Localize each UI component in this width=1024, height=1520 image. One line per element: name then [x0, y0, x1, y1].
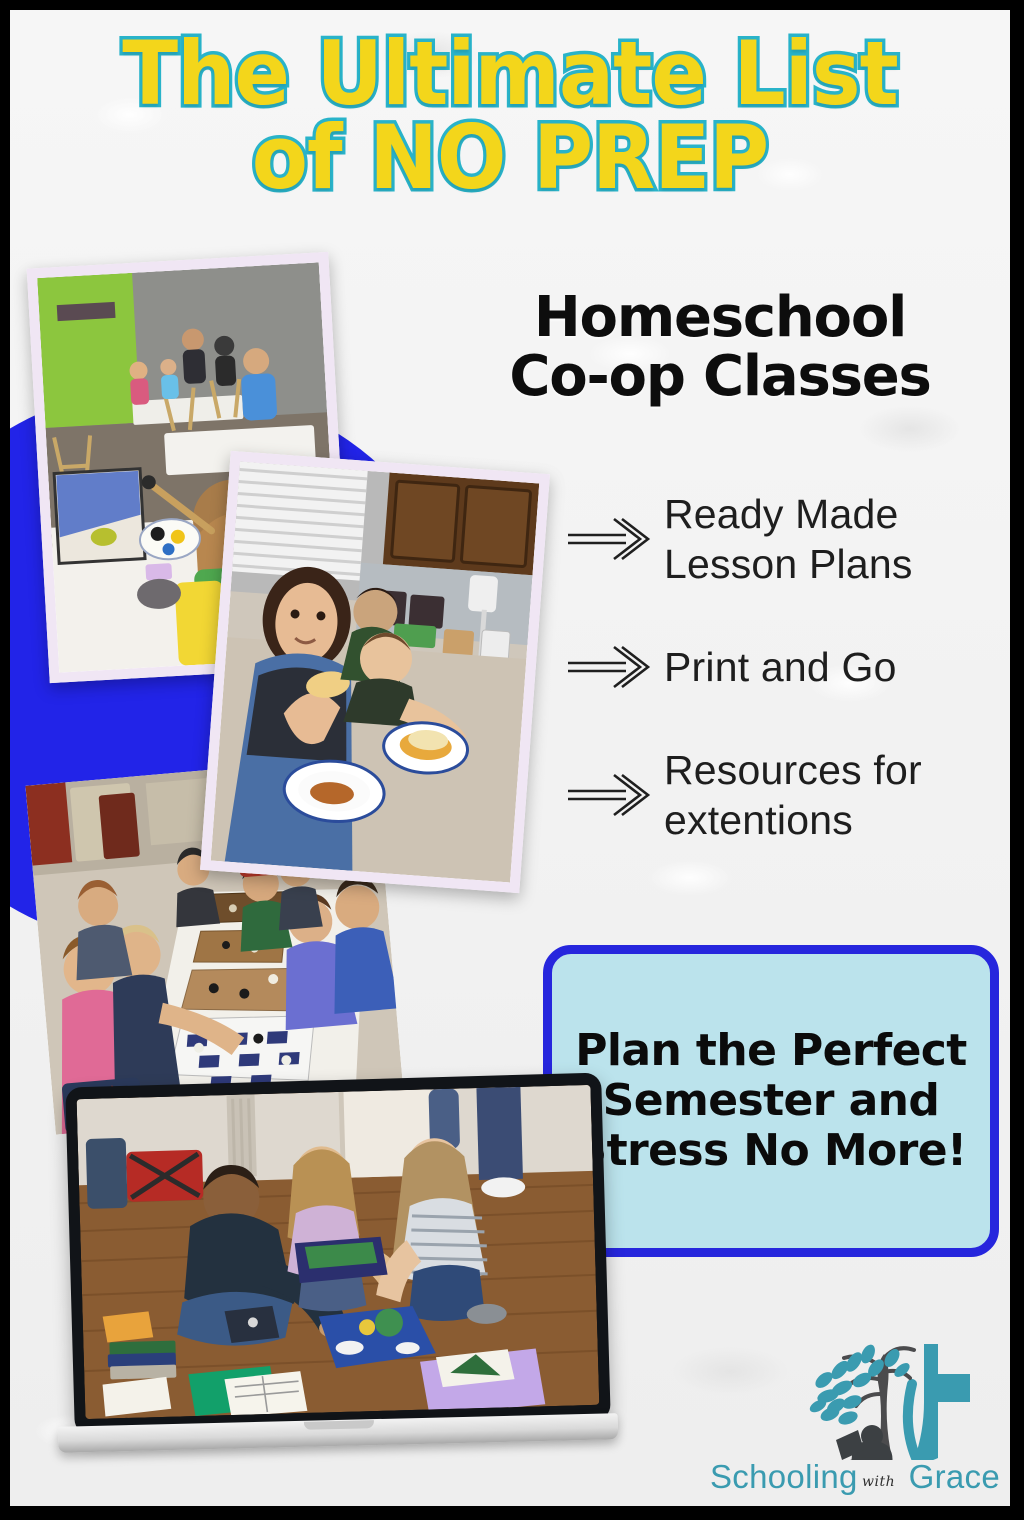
list-item: Print and Go: [566, 612, 1006, 722]
laptop-lid: [65, 1073, 611, 1436]
logo-word-left: Schooling: [710, 1458, 858, 1496]
double-arrow-icon: [566, 773, 652, 817]
subtitle: Homeschool Co-op Classes: [446, 288, 994, 407]
logo-wordmark: Schooling with Grace: [710, 1448, 1000, 1496]
list-item-label: Ready Made Lesson Plans: [664, 489, 913, 589]
cooking-class-photo: [200, 451, 550, 893]
feature-list: Ready Made Lesson Plans Print and Go: [566, 484, 1006, 868]
tree-cross-reading-child-logo: [806, 1340, 1010, 1460]
list-item-label: Print and Go: [664, 642, 897, 692]
double-arrow-icon: [566, 645, 652, 689]
poster-frame: The Ultimate List of NO PREP Homeschool …: [0, 0, 1024, 1520]
list-item: Resources for extentions: [566, 740, 1006, 850]
poster-canvas: The Ultimate List of NO PREP Homeschool …: [10, 10, 1010, 1506]
page-title: The Ultimate List of NO PREP: [45, 32, 975, 199]
callout-text: Plan the Perfect Semester and Stress No …: [575, 1026, 966, 1176]
floor-activity-photo: [77, 1085, 600, 1419]
brand-logo[interactable]: Schooling with Grace: [710, 1340, 1000, 1500]
list-item-label: Resources for extentions: [664, 745, 922, 845]
laptop-notch: [304, 1420, 374, 1430]
logo-word-right: Grace: [909, 1458, 1000, 1496]
laptop-mockup: [58, 1080, 618, 1480]
double-arrow-icon: [566, 517, 652, 561]
list-item: Ready Made Lesson Plans: [566, 484, 1006, 594]
logo-word-with: with: [862, 1474, 895, 1490]
